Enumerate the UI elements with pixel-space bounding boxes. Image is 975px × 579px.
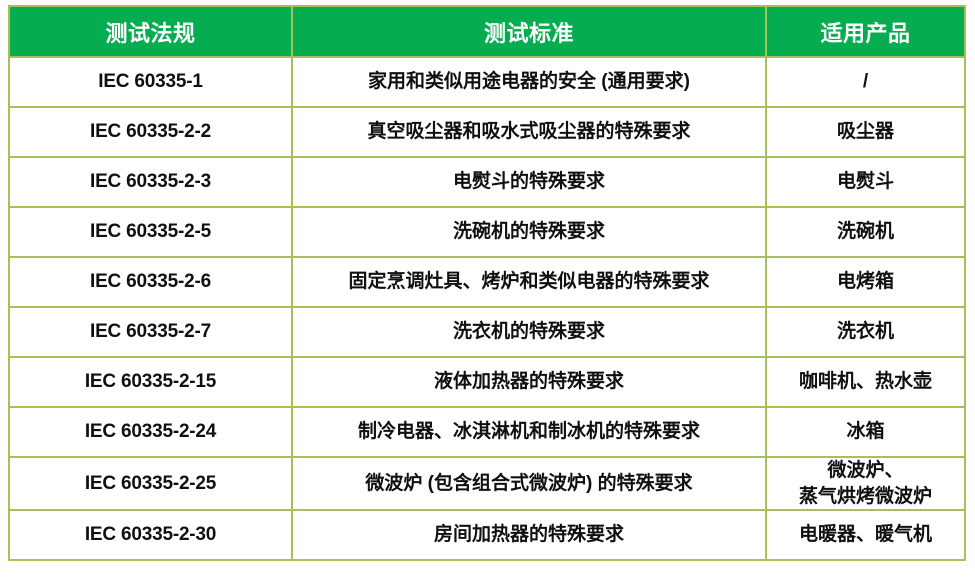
cell-regulation: IEC 60335-2-30 — [9, 510, 292, 560]
table-row: IEC 60335-2-2真空吸尘器和吸水式吸尘器的特殊要求吸尘器 — [9, 107, 965, 157]
table-row: IEC 60335-2-5洗碗机的特殊要求洗碗机 — [9, 207, 965, 257]
column-header-regulation: 测试法规 — [9, 6, 292, 57]
cell-standard: 微波炉 (包含组合式微波炉) 的特殊要求 — [292, 457, 766, 510]
cell-product-line-1: 微波炉、 — [773, 458, 958, 484]
cell-product: 电熨斗 — [766, 157, 965, 207]
cell-standard: 洗衣机的特殊要求 — [292, 307, 766, 357]
table-row: IEC 60335-2-6固定烹调灶具、烤炉和类似电器的特殊要求电烤箱 — [9, 257, 965, 307]
table-row: IEC 60335-2-30房间加热器的特殊要求电暖器、暖气机 — [9, 510, 965, 560]
cell-standard: 真空吸尘器和吸水式吸尘器的特殊要求 — [292, 107, 766, 157]
cell-standard: 制冷电器、冰淇淋机和制冰机的特殊要求 — [292, 407, 766, 457]
table-row: IEC 60335-2-25微波炉 (包含组合式微波炉) 的特殊要求微波炉、蒸气… — [9, 457, 965, 510]
cell-regulation: IEC 60335-1 — [9, 57, 292, 107]
cell-regulation: IEC 60335-2-25 — [9, 457, 292, 510]
cell-regulation: IEC 60335-2-24 — [9, 407, 292, 457]
cell-product: 电暖器、暖气机 — [766, 510, 965, 560]
cell-product: 微波炉、蒸气烘烤微波炉 — [766, 457, 965, 510]
cell-product: 咖啡机、热水壶 — [766, 357, 965, 407]
cell-product: / — [766, 57, 965, 107]
cell-standard: 电熨斗的特殊要求 — [292, 157, 766, 207]
cell-standard: 液体加热器的特殊要求 — [292, 357, 766, 407]
cell-regulation: IEC 60335-2-6 — [9, 257, 292, 307]
column-header-product: 适用产品 — [766, 6, 965, 57]
iec-standards-table: 测试法规 测试标准 适用产品 IEC 60335-1家用和类似用途电器的安全 (… — [8, 5, 966, 561]
table-header: 测试法规 测试标准 适用产品 — [9, 6, 965, 57]
cell-product: 洗衣机 — [766, 307, 965, 357]
cell-regulation: IEC 60335-2-15 — [9, 357, 292, 407]
cell-product: 电烤箱 — [766, 257, 965, 307]
cell-standard: 家用和类似用途电器的安全 (通用要求) — [292, 57, 766, 107]
cell-regulation: IEC 60335-2-7 — [9, 307, 292, 357]
table-row: IEC 60335-2-3电熨斗的特殊要求电熨斗 — [9, 157, 965, 207]
table-row: IEC 60335-2-24制冷电器、冰淇淋机和制冰机的特殊要求冰箱 — [9, 407, 965, 457]
cell-standard: 固定烹调灶具、烤炉和类似电器的特殊要求 — [292, 257, 766, 307]
cell-regulation: IEC 60335-2-2 — [9, 107, 292, 157]
cell-regulation: IEC 60335-2-5 — [9, 207, 292, 257]
cell-product: 洗碗机 — [766, 207, 965, 257]
cell-standard: 房间加热器的特殊要求 — [292, 510, 766, 560]
header-row: 测试法规 测试标准 适用产品 — [9, 6, 965, 57]
column-header-standard: 测试标准 — [292, 6, 766, 57]
cell-product: 吸尘器 — [766, 107, 965, 157]
table-row: IEC 60335-2-15液体加热器的特殊要求咖啡机、热水壶 — [9, 357, 965, 407]
table-row: IEC 60335-1家用和类似用途电器的安全 (通用要求)/ — [9, 57, 965, 107]
cell-standard: 洗碗机的特殊要求 — [292, 207, 766, 257]
standards-table-container: 测试法规 测试标准 适用产品 IEC 60335-1家用和类似用途电器的安全 (… — [8, 5, 964, 561]
table-body: IEC 60335-1家用和类似用途电器的安全 (通用要求)/IEC 60335… — [9, 57, 965, 560]
cell-product-line-2: 蒸气烘烤微波炉 — [773, 484, 958, 510]
cell-regulation: IEC 60335-2-3 — [9, 157, 292, 207]
cell-product: 冰箱 — [766, 407, 965, 457]
table-row: IEC 60335-2-7洗衣机的特殊要求洗衣机 — [9, 307, 965, 357]
